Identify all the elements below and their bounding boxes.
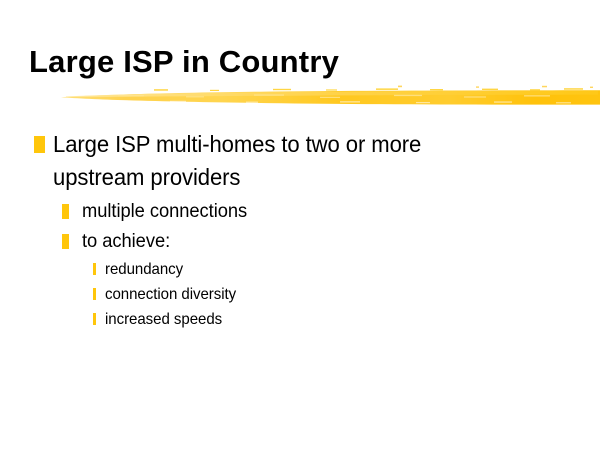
slide-title: Large ISP in Country [29,44,569,80]
title-brush-stroke-decoration [58,84,600,108]
bullet-text: connection diversity [105,282,570,307]
bullet-text: increased speeds [105,307,570,332]
line-bullet-marker-icon [93,288,96,300]
bullet-item-level-3: redundancy [0,257,600,282]
presentation-slide: Large ISP in Country [0,0,600,450]
bullet-item-level-3: increased speeds [0,307,600,332]
bullet-text: multiple connections [82,197,569,226]
bullet-item-level-1: Large ISP multi-homes to two or more ups… [0,128,600,194]
line-bullet-marker-icon [93,263,96,275]
bullet-item-level-2: to achieve: [0,227,600,256]
bar-bullet-marker-icon [62,204,69,219]
slide-body-bullet-list: Large ISP multi-homes to two or more ups… [0,128,600,332]
bullet-text: redundancy [105,257,570,282]
bullet-item-level-2: multiple connections [0,197,600,226]
bullet-text: Large ISP multi-homes to two or more ups… [53,128,496,194]
bullet-text: to achieve: [82,227,569,256]
bullet-item-level-3: connection diversity [0,282,600,307]
square-bullet-marker-icon [34,136,45,153]
bar-bullet-marker-icon [62,234,69,249]
line-bullet-marker-icon [93,313,96,325]
